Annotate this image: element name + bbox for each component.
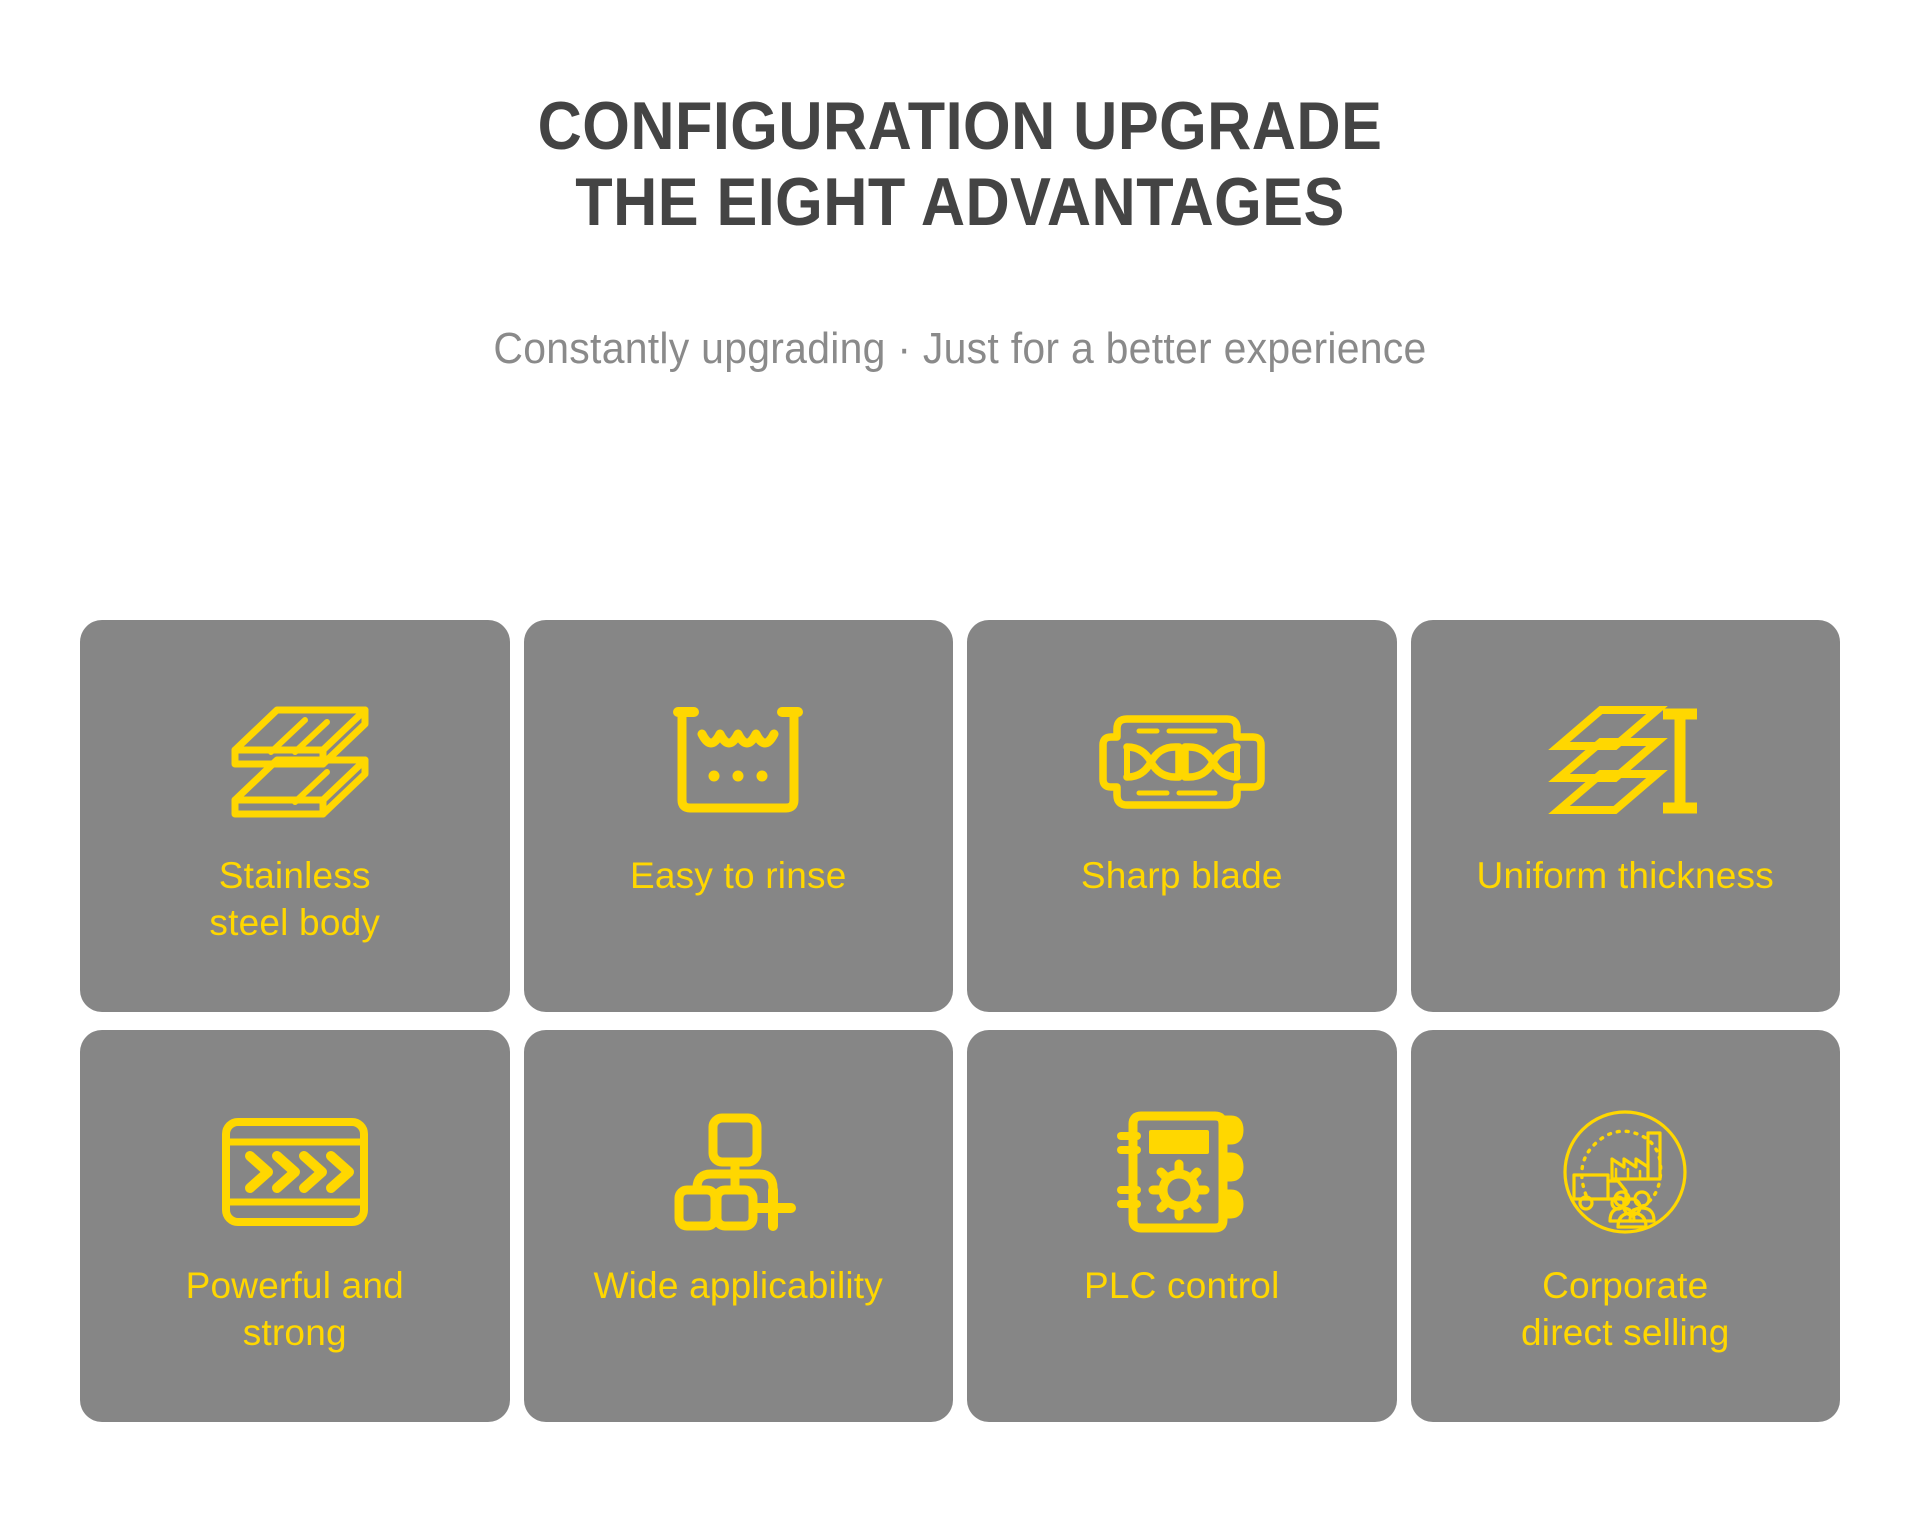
razor-blade-icon <box>1092 692 1272 832</box>
advantage-card-powerful-and-strong[interactable]: Powerful and strong <box>80 1030 510 1422</box>
page-title: CONFIGURATION UPGRADE THE EIGHT ADVANTAG… <box>96 88 1824 240</box>
advantage-card-label: Corporate direct selling <box>1419 1262 1833 1357</box>
layers-caliper-icon <box>1535 692 1715 832</box>
advantage-card-label: Easy to rinse <box>532 852 946 899</box>
advantage-card-corporate-direct-selling[interactable]: Corporate direct selling <box>1411 1030 1841 1422</box>
page-subtitle: Constantly upgrading · Just for a better… <box>67 324 1853 374</box>
advantage-card-label: Wide applicability <box>532 1262 946 1309</box>
fast-forward-chevrons-icon <box>205 1102 385 1242</box>
advantage-card-label: Uniform thickness <box>1419 852 1833 899</box>
advantage-card-uniform-thickness[interactable]: Uniform thickness <box>1411 620 1841 1012</box>
plc-module-gear-icon <box>1092 1102 1272 1242</box>
stacked-plates-icon <box>205 692 385 832</box>
advantage-card-easy-to-rinse[interactable]: Easy to rinse <box>524 620 954 1012</box>
advantage-card-label: Stainless steel body <box>88 852 502 947</box>
sitemap-plus-icon <box>648 1102 828 1242</box>
advantage-card-label: Powerful and strong <box>88 1262 502 1357</box>
advantage-card-wide-applicability[interactable]: Wide applicability <box>524 1030 954 1422</box>
header: CONFIGURATION UPGRADE THE EIGHT ADVANTAG… <box>0 88 1920 374</box>
advantages-grid: Stainless steel body Easy to rinse <box>80 620 1840 1422</box>
advantage-card-sharp-blade[interactable]: Sharp blade <box>967 620 1397 1012</box>
advantage-card-label: PLC control <box>975 1262 1389 1309</box>
factory-truck-people-icon <box>1535 1102 1715 1242</box>
wash-basin-icon <box>648 692 828 832</box>
advantage-card-plc-control[interactable]: PLC control <box>967 1030 1397 1422</box>
advantage-card-stainless-steel-body[interactable]: Stainless steel body <box>80 620 510 1012</box>
advantage-card-label: Sharp blade <box>975 852 1389 899</box>
advantages-infographic: CONFIGURATION UPGRADE THE EIGHT ADVANTAG… <box>0 0 1920 1522</box>
